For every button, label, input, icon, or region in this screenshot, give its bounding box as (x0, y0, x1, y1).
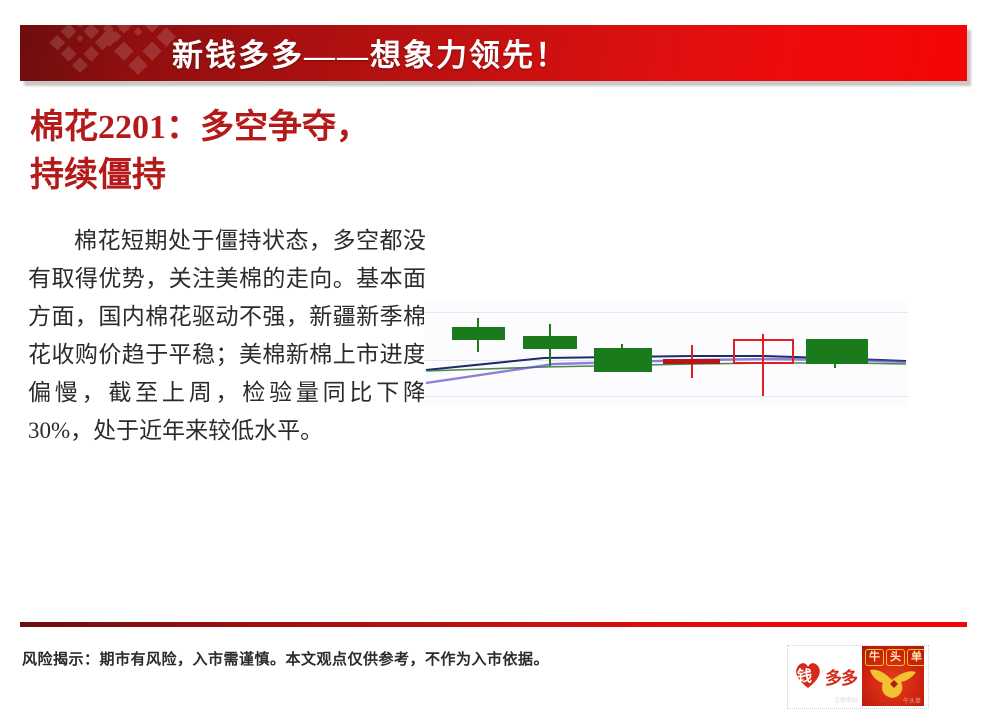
footer-disclaimer: 风险揭示：期市有风险，入市需谨慎。本文观点仅供参考，不作为入市依据。 (22, 648, 549, 669)
header-banner: 新钱多多——想象力领先！ (20, 25, 967, 81)
page-title-line-1: 棉花2201：多空争夺， (30, 104, 450, 152)
bull-head-icon (868, 666, 918, 700)
qianduoduo-logo-tiny-text: 注册商标 (834, 695, 858, 704)
banner-title: 新钱多多——想象力领先！ (172, 30, 568, 75)
chart-canvas (424, 300, 908, 406)
niutoudan-char-row: 牛 头 单 (865, 649, 924, 666)
banner-background: 新钱多多——想象力领先！ (20, 25, 967, 81)
qianduoduo-logo-char: 钱 (797, 665, 812, 686)
niutoudan-logo-tiny-text: 牛头单 (903, 696, 921, 705)
qianduoduo-logo: 钱 多多 注册商标 (788, 646, 862, 706)
qianduoduo-logo-suffix: 多多 (825, 664, 857, 689)
niutoudan-logo: 牛 头 单 牛头单 (862, 646, 924, 706)
candle-2 (594, 344, 652, 372)
page-title-line-2: 持续僵持 (30, 152, 450, 200)
page-title: 棉花2201：多空争夺， 持续僵持 (30, 104, 450, 200)
niutoudan-char-1: 头 (886, 649, 905, 666)
footer-logos: 钱 多多 注册商标 牛 头 单 牛头单 (787, 645, 929, 709)
candle-5 (806, 339, 868, 368)
diamond-lattice-ornament-icon (20, 25, 190, 81)
niutoudan-char-2: 单 (907, 649, 924, 666)
footer-divider (20, 622, 967, 627)
candlestick-chart (424, 300, 908, 406)
body-paragraph: 棉花短期处于僵持状态，多空都没有取得优势，关注美棉的走向。基本面方面，国内棉花驱… (28, 222, 426, 450)
niutoudan-char-0: 牛 (865, 649, 884, 666)
